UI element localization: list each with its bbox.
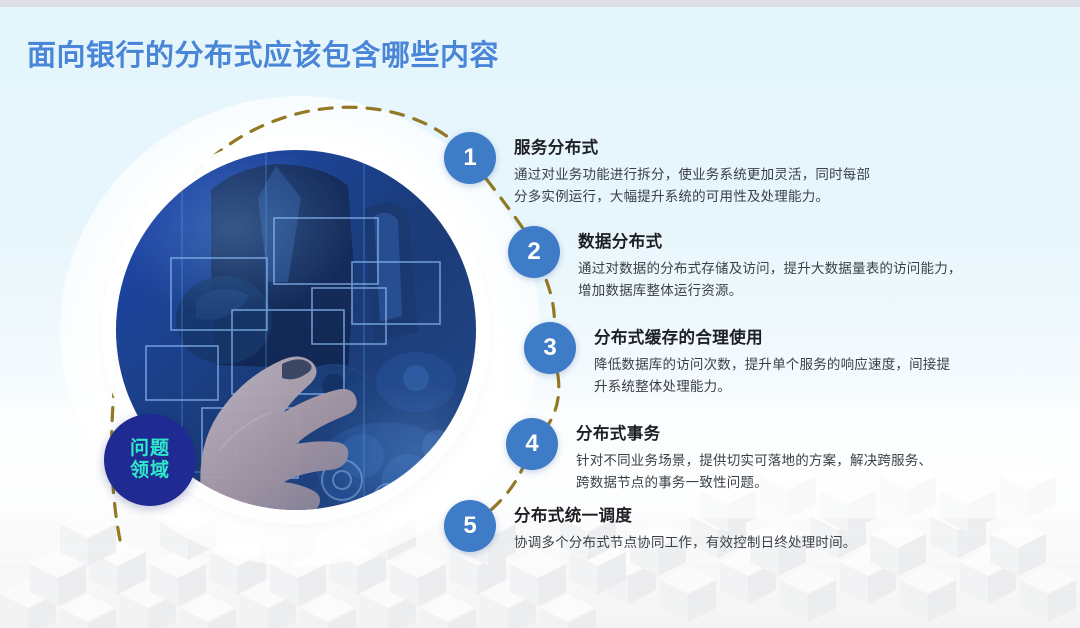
item-heading-4: 分布式事务 <box>576 420 932 444</box>
item-heading-3: 分布式缓存的合理使用 <box>594 324 950 348</box>
item-body-1: 通过对业务功能进行拆分，使业务系统更加灵活，同时每部 分多实例运行，大幅提升系统… <box>514 164 870 208</box>
item-number-badge-4: 4 <box>506 418 558 470</box>
problem-domain-line2: 领域 <box>130 460 170 482</box>
list-item-1: 1 服务分布式 通过对业务功能进行拆分，使业务系统更加灵活，同时每部 分多实例运… <box>444 132 870 208</box>
item-number-badge-5: 5 <box>444 500 496 552</box>
slide-canvas: 问题 领域 面向银行的分布式应该包含哪些内容 1 服务分布式 通过对业务功能进行… <box>0 0 1080 628</box>
list-item-3: 3 分布式缓存的合理使用 降低数据库的访问次数，提升单个服务的响应速度，间接提 … <box>524 322 950 398</box>
item-heading-5: 分布式统一调度 <box>514 502 857 526</box>
item-number-badge-1: 1 <box>444 132 496 184</box>
item-number-badge-2: 2 <box>508 226 560 278</box>
problem-domain-line1: 问题 <box>130 438 170 460</box>
item-number-badge-3: 3 <box>524 322 576 374</box>
top-strip <box>0 0 1080 7</box>
page-title: 面向银行的分布式应该包含哪些内容 <box>27 32 499 74</box>
list-item-5: 5 分布式统一调度 协调多个分布式节点协同工作，有效控制日终处理时间。 <box>444 500 857 554</box>
item-body-2: 通过对数据的分布式存储及访问，提升大数据量表的访问能力， 增加数据库整体运行资源… <box>578 258 962 302</box>
item-body-5: 协调多个分布式节点协同工作，有效控制日终处理时间。 <box>514 532 857 554</box>
list-item-2: 2 数据分布式 通过对数据的分布式存储及访问，提升大数据量表的访问能力， 增加数… <box>508 226 962 302</box>
list-item-4: 4 分布式事务 针对不同业务场景，提供切实可落地的方案，解决跨服务、 跨数据节点… <box>506 418 932 494</box>
item-heading-2: 数据分布式 <box>578 228 962 252</box>
item-body-3: 降低数据库的访问次数，提升单个服务的响应速度，间接提 升系统整体处理能力。 <box>594 354 950 398</box>
problem-domain-badge: 问题 领域 <box>104 414 196 506</box>
item-heading-1: 服务分布式 <box>514 134 870 158</box>
item-body-4: 针对不同业务场景，提供切实可落地的方案，解决跨服务、 跨数据节点的事务一致性问题… <box>576 450 932 494</box>
